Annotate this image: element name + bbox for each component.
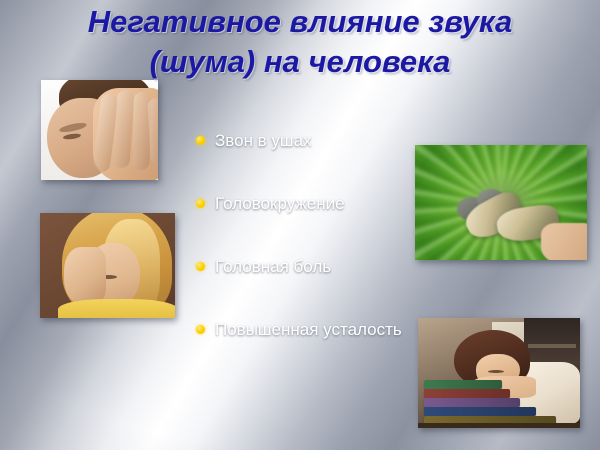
leg-shape bbox=[541, 223, 587, 260]
bullet-dot-icon bbox=[196, 325, 205, 334]
bullet-dot-icon bbox=[196, 262, 205, 271]
bullet-label: Головокружение bbox=[215, 191, 345, 216]
hand-on-forehead-shape bbox=[64, 247, 106, 305]
bullet-list: Звон в ушах Головокружение Головная боль… bbox=[196, 128, 411, 342]
shirt-shape bbox=[58, 299, 175, 318]
book-shape bbox=[424, 398, 520, 407]
presentation-slide: Негативное влияние звука (шума) на челов… bbox=[0, 0, 600, 450]
shelf-line bbox=[528, 344, 576, 348]
bullet-label: Повышенная усталость bbox=[215, 317, 402, 342]
closed-eye-shape bbox=[488, 370, 504, 373]
desk-surface bbox=[418, 423, 580, 428]
tired-woman-sleeping-on-books-photo bbox=[418, 318, 580, 428]
bullet-dot-icon bbox=[196, 136, 205, 145]
bullet-item-dizziness: Головокружение bbox=[196, 191, 411, 216]
bullet-item-headache: Головная боль bbox=[196, 254, 411, 279]
bullet-label: Головная боль bbox=[215, 254, 331, 279]
man-covering-ear-photo bbox=[41, 80, 158, 180]
bullet-dot-icon bbox=[196, 199, 205, 208]
bullet-item-ringing-ears: Звон в ушах bbox=[196, 128, 411, 153]
book-shape bbox=[424, 380, 502, 389]
woman-headache-photo bbox=[40, 213, 175, 318]
dizziness-swirling-grass-photo bbox=[415, 145, 587, 260]
slide-title: Негативное влияние звука (шума) на челов… bbox=[0, 2, 600, 82]
book-shape bbox=[424, 389, 510, 398]
bullet-label: Звон в ушах bbox=[215, 128, 312, 153]
book-shape bbox=[424, 407, 536, 416]
bullet-item-fatigue: Повышенная усталость bbox=[196, 317, 411, 342]
